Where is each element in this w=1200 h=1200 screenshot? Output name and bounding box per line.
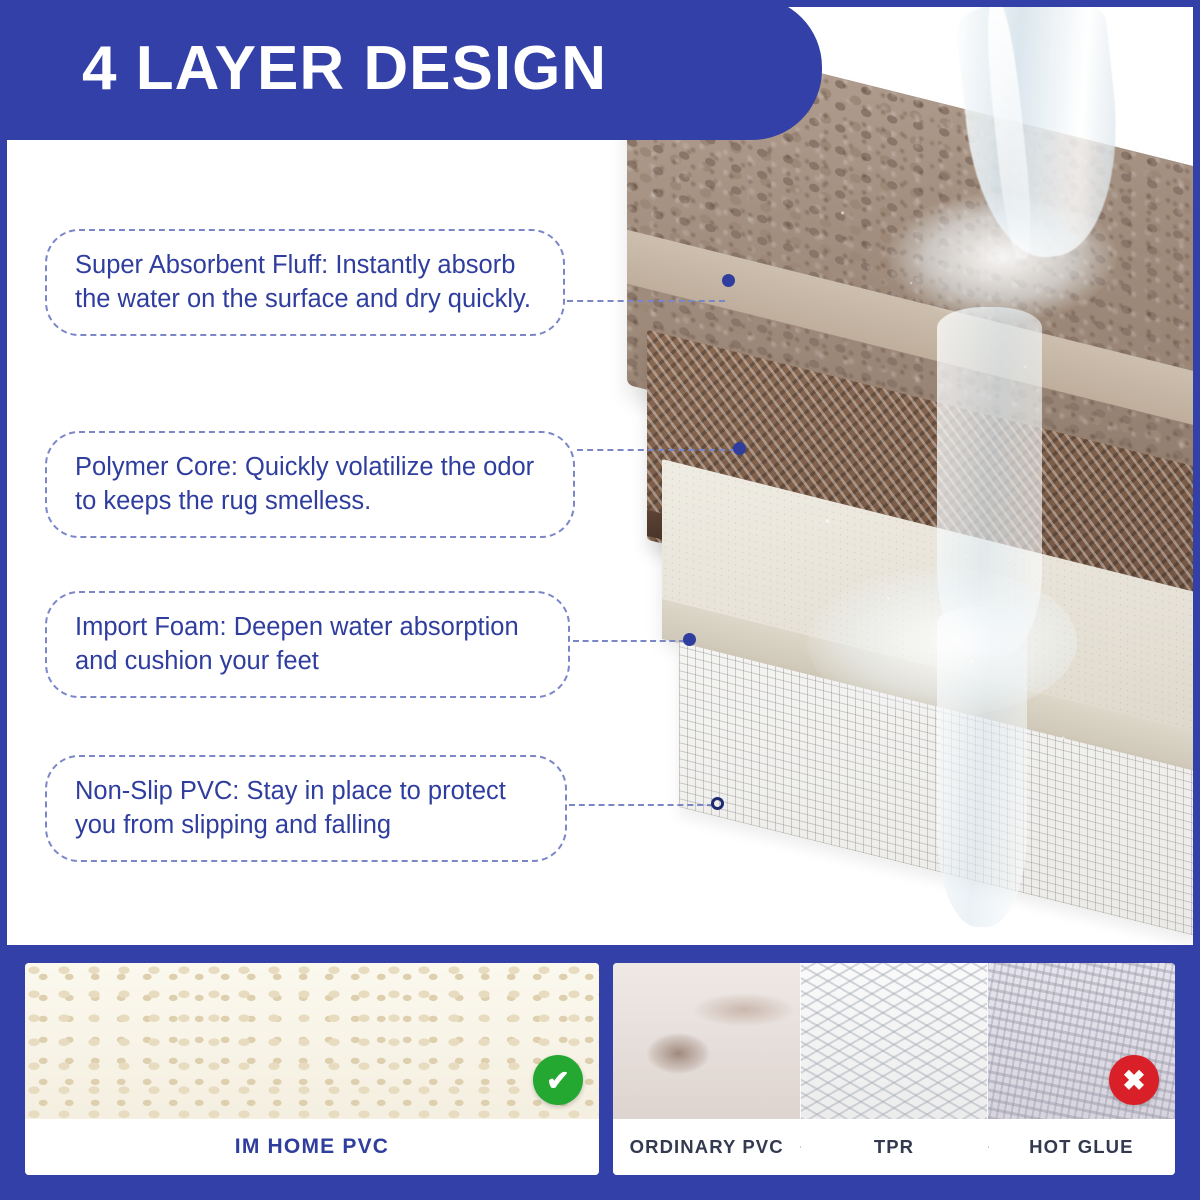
anchor-dot-pvc — [711, 797, 724, 810]
anchor-dot-polymer — [733, 442, 746, 455]
water-droplets — [797, 157, 1177, 857]
bad-swatch-row — [613, 963, 1175, 1119]
good-swatch-row — [25, 963, 599, 1119]
caption-hot-glue: HOT GLUE — [988, 1136, 1175, 1158]
page-title: 4 LAYER DESIGN — [82, 38, 607, 100]
leader-line-fluff — [567, 300, 725, 302]
callout-non-slip-pvc: Non-Slip PVC: Stay in place to protect y… — [45, 755, 567, 862]
comparison-strip: ✔ IM HOME PVC ✖ ORDINARY PVC TPR HOT GLU… — [7, 945, 1193, 1193]
swatch-ordinary-pvc — [613, 963, 800, 1119]
anchor-dot-fluff — [722, 274, 735, 287]
caption-tpr: TPR — [800, 1136, 987, 1158]
comparison-panel-good: ✔ IM HOME PVC — [25, 963, 599, 1175]
caption-im-home-pvc: IM HOME PVC — [25, 1135, 599, 1159]
infographic-page: 4 LAYER DESIGN Super Absorbent Fluff: In… — [0, 0, 1200, 1200]
leader-line-pvc — [569, 804, 713, 806]
swatch-tpr — [800, 963, 988, 1119]
callout-super-absorbent-fluff: Super Absorbent Fluff: Instantly absorb … — [45, 229, 565, 336]
callout-text: Super Absorbent Fluff: Instantly absorb … — [75, 251, 531, 313]
callout-text: Polymer Core: Quickly volatilize the odo… — [75, 453, 534, 515]
check-icon: ✔ — [533, 1055, 583, 1105]
comparison-panel-bad: ✖ ORDINARY PVC TPR HOT GLUE — [613, 963, 1175, 1175]
cross-icon: ✖ — [1109, 1055, 1159, 1105]
callout-polymer-core: Polymer Core: Quickly volatilize the odo… — [45, 431, 575, 538]
leader-line-foam — [573, 640, 685, 642]
callout-text: Import Foam: Deepen water absorption and… — [75, 613, 519, 675]
leader-line-polymer — [577, 449, 735, 451]
header-banner: 4 LAYER DESIGN — [0, 0, 822, 140]
good-caption-bar: IM HOME PVC — [25, 1119, 599, 1175]
bad-caption-bar: ORDINARY PVC TPR HOT GLUE — [613, 1119, 1175, 1175]
callout-import-foam: Import Foam: Deepen water absorption and… — [45, 591, 570, 698]
anchor-dot-foam — [683, 633, 696, 646]
callout-text: Non-Slip PVC: Stay in place to protect y… — [75, 777, 506, 839]
swatch-im-home-pvc — [25, 963, 599, 1119]
caption-ordinary-pvc: ORDINARY PVC — [613, 1136, 800, 1158]
